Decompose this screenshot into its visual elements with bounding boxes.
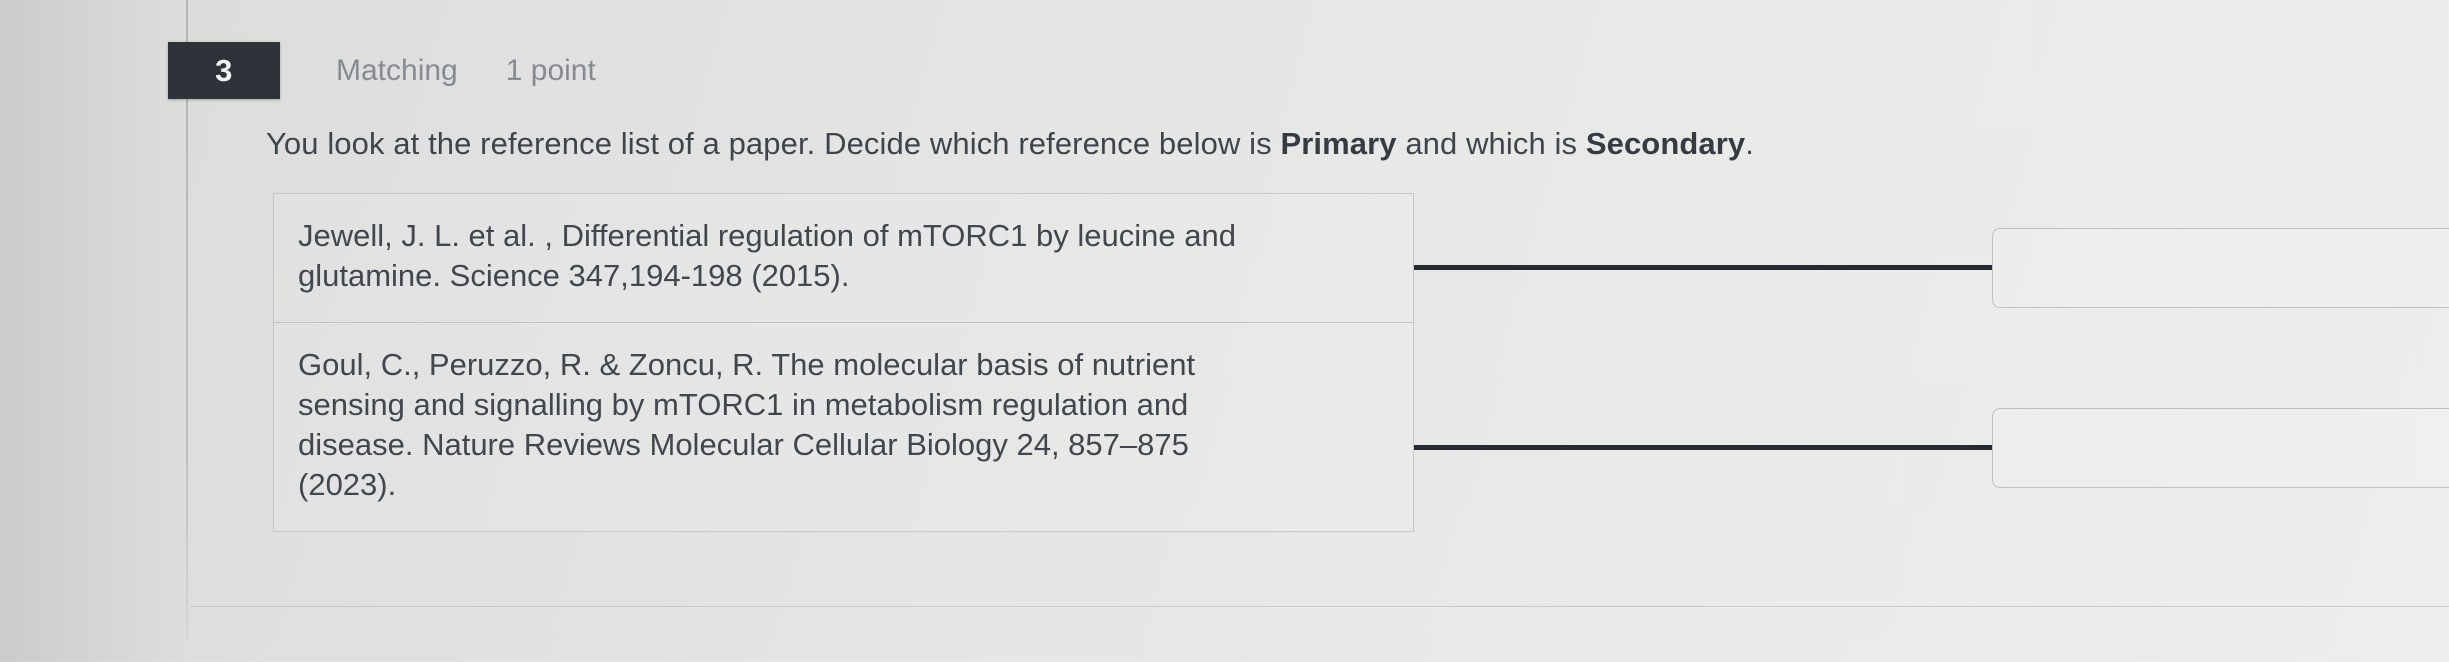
question-points-label: 1 point	[506, 54, 596, 88]
reference-line: Goul, C., Peruzzo, R. & Zoncu, R. The mo…	[298, 345, 1383, 385]
reference-line: glutamine. Science 347,194-198 (2015).	[298, 256, 1383, 296]
match-connector-line-2	[1414, 445, 1992, 450]
reference-item[interactable]: Jewell, J. L. et al. , Differential regu…	[274, 194, 1413, 322]
question-type-label: Matching	[336, 54, 458, 88]
prompt-text-part3: .	[1745, 126, 1754, 161]
page-left-margin	[0, 0, 190, 662]
question-number-badge: 3	[168, 42, 280, 99]
reference-line: (2023).	[298, 465, 1383, 505]
prompt-emphasis-primary: Primary	[1280, 126, 1396, 161]
question-meta: Matching 1 point	[336, 54, 596, 88]
question-header: 3 Matching 1 point	[168, 42, 596, 99]
prompt-emphasis-secondary: Secondary	[1586, 126, 1745, 161]
prompt-text-part1: You look at the reference list of a pape…	[266, 126, 1280, 161]
horizontal-divider	[190, 606, 2449, 607]
reference-list: Jewell, J. L. et al. , Differential regu…	[273, 193, 1414, 532]
reference-line: disease. Nature Reviews Molecular Cellul…	[298, 425, 1383, 465]
question-screen: 3 Matching 1 point You look at the refer…	[0, 0, 2449, 662]
reference-line: Jewell, J. L. et al. , Differential regu…	[298, 216, 1383, 256]
match-connector-line-1	[1414, 265, 1992, 270]
answer-dropdown-1[interactable]	[1992, 228, 2449, 308]
question-prompt: You look at the reference list of a pape…	[266, 126, 1754, 162]
prompt-text-part2: and which is	[1397, 126, 1586, 161]
reference-line: sensing and signalling by mTORC1 in meta…	[298, 385, 1383, 425]
reference-item[interactable]: Goul, C., Peruzzo, R. & Zoncu, R. The mo…	[274, 322, 1413, 531]
answer-dropdown-2[interactable]	[1992, 408, 2449, 488]
